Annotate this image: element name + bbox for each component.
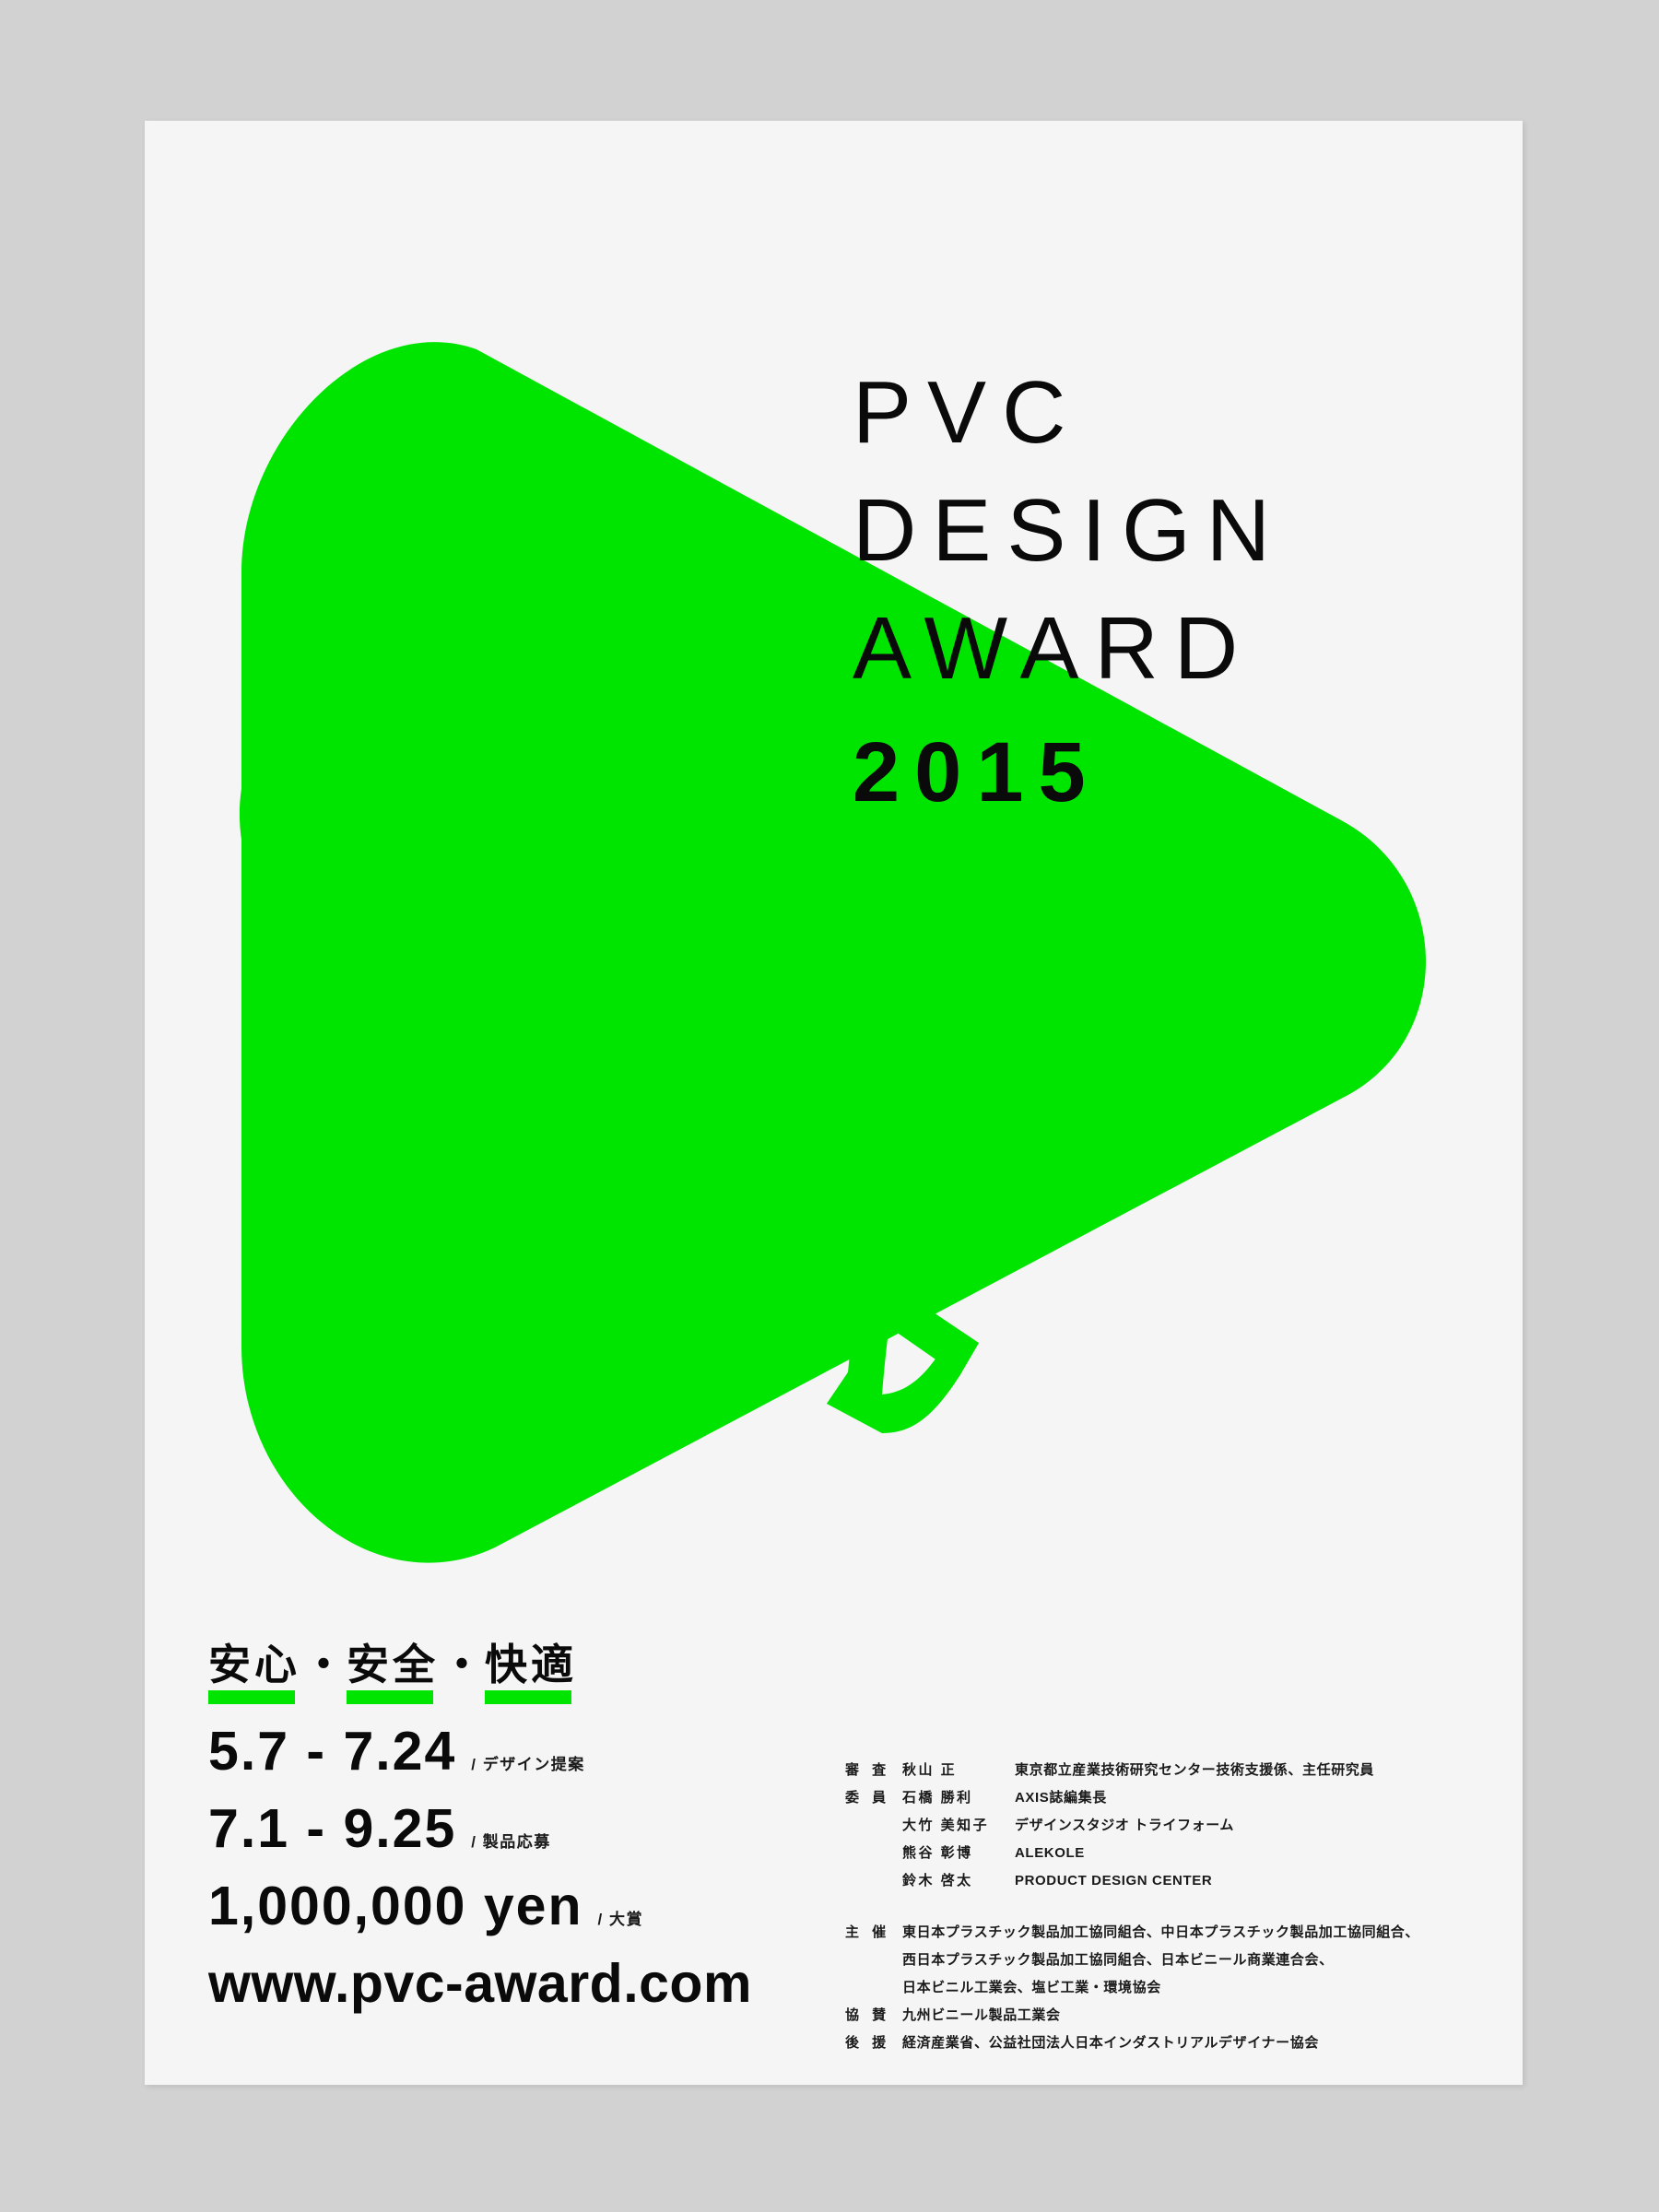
organizers-line: 東日本プラスチック製品加工協同組合、中日本プラスチック製品加工協同組合、: [902, 1919, 1419, 1947]
jury-row: 委 員 石橋 勝利 AXIS誌編集長: [845, 1784, 1490, 1812]
jury-member-affiliation: 東京都立産業技術研究センター技術支援係、主任研究員: [1015, 1757, 1374, 1784]
jury-member-affiliation: PRODUCT DESIGN CENTER: [1015, 1867, 1212, 1895]
ribbon-right-hook-lower: [882, 1343, 979, 1433]
jury-member-name: 大竹 美知子: [902, 1812, 1015, 1840]
tagline-word-3: 快適: [485, 1640, 577, 1704]
website-url[interactable]: www.pvc-award.com: [208, 1953, 752, 2014]
schedule-design-dates: 5.7 - 7.24: [208, 1721, 456, 1782]
title-line-pvc: PVC: [853, 354, 1498, 472]
support-line: 経済産業省、公益社団法人日本インダストリアルデザイナー協会: [902, 2030, 1319, 2057]
tagline-separator-2: ・: [439, 1640, 485, 1704]
organizers-line: 日本ビニル工業会、塩ビ工業・環境協会: [902, 1974, 1419, 2002]
credits-block: 審 査 秋山 正 東京都立産業技術研究センター技術支援係、主任研究員 委 員 石…: [845, 1757, 1490, 2057]
jury-member-affiliation: AXIS誌編集長: [1015, 1784, 1107, 1812]
jury-row: 審 査 秋山 正 東京都立産業技術研究センター技術支援係、主任研究員: [845, 1757, 1490, 1784]
page-title: PVC DESIGN AWARD 2015: [853, 354, 1498, 831]
tagline-separator-1: ・: [300, 1640, 347, 1704]
schedule-product-dates: 7.1 - 9.25: [208, 1798, 456, 1859]
schedule-product-note: / 製品応募: [471, 1829, 550, 1852]
ribbon-right-vertex: [827, 1372, 882, 1433]
jury-row: 鈴木 啓太 PRODUCT DESIGN CENTER: [845, 1867, 1490, 1895]
organizers-label: 主 催: [845, 1919, 902, 1947]
jury-row: 熊谷 彰博 ALEKOLE: [845, 1840, 1490, 1867]
tagline: 安心 ・ 安全 ・ 快適: [208, 1640, 798, 1704]
poster-sheet: PVC DESIGN AWARD 2015 安心 ・ 安全 ・ 快適 5.7 -…: [145, 121, 1523, 2085]
organizers-row: 主 催 東日本プラスチック製品加工協同組合、中日本プラスチック製品加工協同組合、…: [845, 1919, 1490, 2002]
ribbon-left-hook: [240, 722, 295, 886]
ribbon-right-hook-upper: [827, 1197, 910, 1404]
organizers-group: 主 催 東日本プラスチック製品加工協同組合、中日本プラスチック製品加工協同組合、…: [845, 1919, 1490, 2057]
schedule-row-product: 7.1 - 9.25 / 製品応募: [208, 1798, 798, 1859]
prize-amount: 1,000,000 yen: [208, 1876, 583, 1936]
tagline-word-2: 安全: [347, 1640, 439, 1704]
website-row[interactable]: www.pvc-award.com: [208, 1953, 798, 2014]
jury-member-name: 秋山 正: [902, 1757, 1015, 1784]
screenshot-canvas: PVC DESIGN AWARD 2015 安心 ・ 安全 ・ 快適 5.7 -…: [0, 0, 1659, 2212]
jury-member-name: 熊谷 彰博: [902, 1840, 1015, 1867]
ribbon-diagonal: [255, 877, 979, 1376]
organizers-lines: 東日本プラスチック製品加工協同組合、中日本プラスチック製品加工協同組合、 西日本…: [902, 1919, 1419, 2002]
jury-label-line-1: 審 査: [845, 1757, 902, 1784]
prize-note: / 大賞: [598, 1906, 643, 1929]
jury-member-name: 鈴木 啓太: [902, 1867, 1015, 1895]
info-block: 安心 ・ 安全 ・ 快適 5.7 - 7.24 / デザイン提案 7.1 - 9…: [208, 1640, 798, 2014]
jury-group: 審 査 秋山 正 東京都立産業技術研究センター技術支援係、主任研究員 委 員 石…: [845, 1757, 1490, 1895]
title-line-design: DESIGN: [853, 472, 1498, 590]
jury-member-affiliation: デザインスタジオ トライフォーム: [1015, 1812, 1234, 1840]
sponsor-line: 九州ビニール製品工業会: [902, 2002, 1061, 2030]
support-row: 後 援 経済産業省、公益社団法人日本インダストリアルデザイナー協会: [845, 2030, 1490, 2057]
jury-row: 大竹 美知子 デザインスタジオ トライフォーム: [845, 1812, 1490, 1840]
title-line-year: 2015: [853, 713, 1498, 831]
schedule-row-design: 5.7 - 7.24 / デザイン提案: [208, 1721, 798, 1782]
schedule-design-note: / デザイン提案: [471, 1751, 584, 1774]
title-line-award: AWARD: [853, 590, 1498, 708]
organizers-line: 西日本プラスチック製品加工協同組合、日本ビニール商業連合会、: [902, 1947, 1419, 1974]
jury-label-line-2: 委 員: [845, 1784, 902, 1812]
jury-member-name: 石橋 勝利: [902, 1784, 1015, 1812]
sponsor-label: 協 賛: [845, 2002, 902, 2030]
jury-member-affiliation: ALEKOLE: [1015, 1840, 1085, 1867]
tagline-word-1: 安心: [208, 1640, 300, 1704]
support-label: 後 援: [845, 2030, 902, 2057]
sponsor-row: 協 賛 九州ビニール製品工業会: [845, 2002, 1490, 2030]
prize-row: 1,000,000 yen / 大賞: [208, 1876, 798, 1936]
